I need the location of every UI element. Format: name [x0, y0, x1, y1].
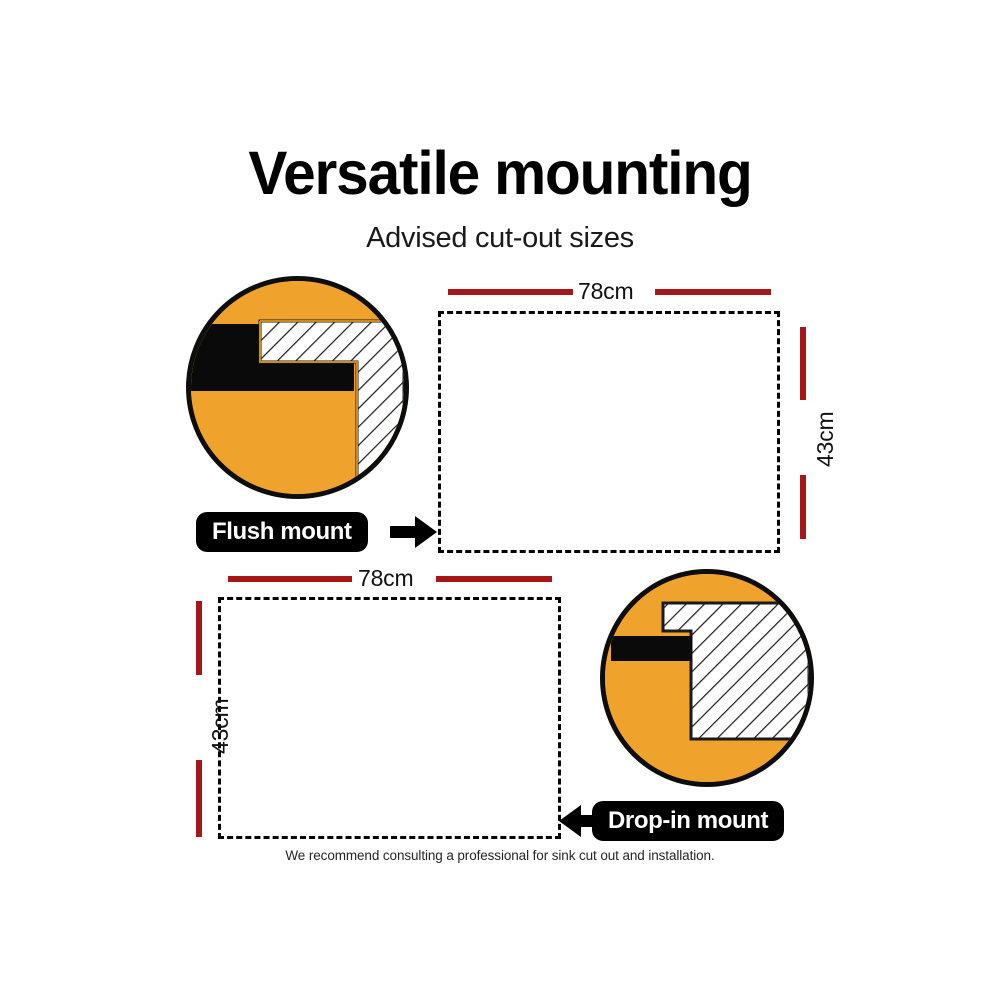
arrow-left-icon: [558, 804, 606, 838]
dimension-rule-left-lower: [196, 760, 202, 837]
page-title: Versatile mounting: [20, 143, 980, 204]
dropin-mount-label-pill[interactable]: Drop-in mount: [592, 801, 784, 841]
cutout-rectangle-dropin: [218, 597, 561, 839]
dimension-rule-top-left: [448, 289, 573, 295]
page-subtitle: Advised cut-out sizes: [0, 222, 1000, 255]
dimension-rule-bottom-left: [228, 576, 352, 582]
cutout-rectangle-flush: [438, 311, 780, 553]
arrow-right-icon: [390, 515, 438, 549]
dimension-label-width-dropin: 78cm: [358, 565, 413, 592]
dimension-rule-right-lower: [800, 475, 806, 539]
drop-in-mount-cross-section-icon: [600, 569, 814, 787]
flush-mount-cross-section-icon: [186, 276, 409, 499]
dimension-label-width-flush: 78cm: [578, 278, 633, 305]
dimension-label-height-dropin: 43cm: [207, 699, 234, 754]
dimension-label-height-flush: 43cm: [812, 412, 839, 467]
dimension-rule-right-upper: [800, 327, 806, 400]
dimension-rule-top-right: [655, 289, 771, 295]
flush-mount-label-pill[interactable]: Flush mount: [196, 512, 368, 552]
flush-mount-label-text: Flush mount: [212, 520, 352, 544]
dimension-rule-left-upper: [196, 601, 202, 675]
product-infographic: Versatile mounting Advised cut-out sizes…: [0, 0, 1000, 1000]
installation-disclaimer: We recommend consulting a professional f…: [0, 848, 1000, 863]
dimension-rule-bottom-right: [436, 576, 552, 582]
dropin-mount-label-text: Drop-in mount: [608, 809, 768, 833]
